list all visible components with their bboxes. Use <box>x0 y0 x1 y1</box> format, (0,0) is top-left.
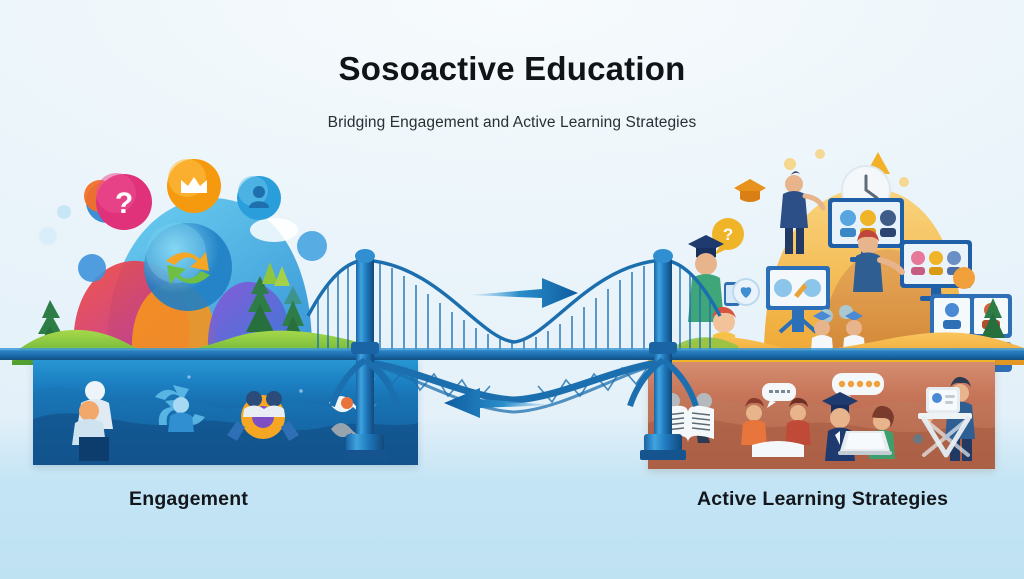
page-subtitle: Bridging Engagement and Active Learning … <box>0 114 1024 132</box>
svg-text:?: ? <box>115 187 133 220</box>
label-active-learning-strategies: Active Learning Strategies <box>697 488 948 511</box>
decorative-circle <box>78 254 106 282</box>
crown-icon <box>167 159 221 213</box>
graduation-cap-icon <box>734 179 766 202</box>
heart-badge-icon <box>733 279 759 305</box>
bridge-deck <box>0 350 1024 360</box>
refresh-arrows-icon <box>144 223 232 311</box>
question-mark-icon: ? <box>96 173 152 230</box>
page-title: Sosoactive Education <box>0 50 1024 88</box>
monitor-on-desk <box>926 387 960 413</box>
arrow-right <box>470 272 580 314</box>
user-avatar-icon <box>237 176 281 220</box>
label-engagement: Engagement <box>129 488 248 511</box>
question-mark-bubble-icon: ? <box>712 218 744 255</box>
arrow-left <box>440 382 552 424</box>
right-illustration-active-learning: ? <box>672 140 1024 365</box>
infographic-canvas: ? <box>0 0 1024 579</box>
svg-text:?: ? <box>723 225 733 244</box>
